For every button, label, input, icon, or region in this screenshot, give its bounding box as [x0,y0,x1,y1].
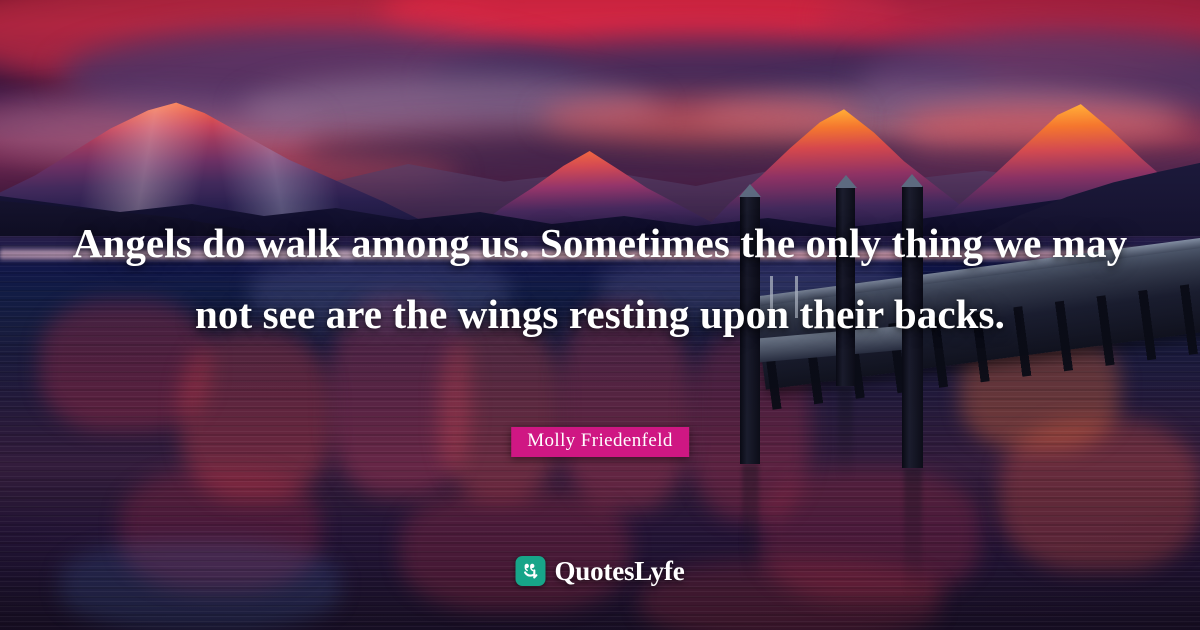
quote-card: Angels do walk among us. Sometimes the o… [0,0,1200,630]
brand-name: QuotesLyfe [555,557,685,585]
author-badge[interactable]: Molly Friedenfeld [511,427,689,457]
quote-marks-icon [516,556,546,586]
card-content: Angels do walk among us. Sometimes the o… [0,0,1200,630]
brand-logo[interactable]: QuotesLyfe [516,556,685,586]
quote-text: Angels do walk among us. Sometimes the o… [60,208,1140,350]
